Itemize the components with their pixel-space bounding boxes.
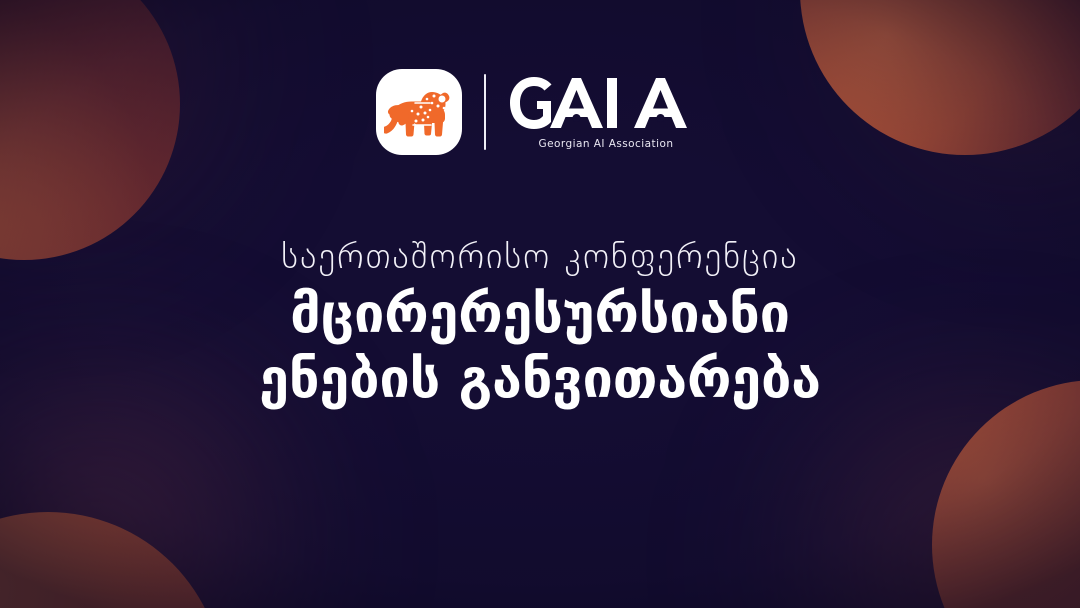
gaia-wordmark-block: Georgian AI Association: [508, 75, 704, 150]
vertical-divider: [484, 74, 486, 150]
conference-title-line-1: მცირერესურსიანი: [290, 283, 790, 346]
poster-content: Georgian AI Association საერთაშორისო კონ…: [0, 0, 1080, 608]
headline-block: საერთაშორისო კონფერენცია მცირერესურსიანი…: [0, 238, 1080, 410]
conference-poster: Georgian AI Association საერთაშორისო კონ…: [0, 0, 1080, 608]
georgian-lion-icon: [384, 81, 454, 143]
logo-lockup: Georgian AI Association: [376, 62, 704, 162]
association-name: Georgian AI Association: [539, 138, 674, 150]
conference-title-line-2: ენების განვითარება: [259, 348, 821, 411]
logo-mark-tile: [376, 69, 462, 155]
gaia-wordmark: [508, 75, 704, 131]
conference-kicker: საერთაშორისო კონფერენცია: [281, 238, 798, 277]
